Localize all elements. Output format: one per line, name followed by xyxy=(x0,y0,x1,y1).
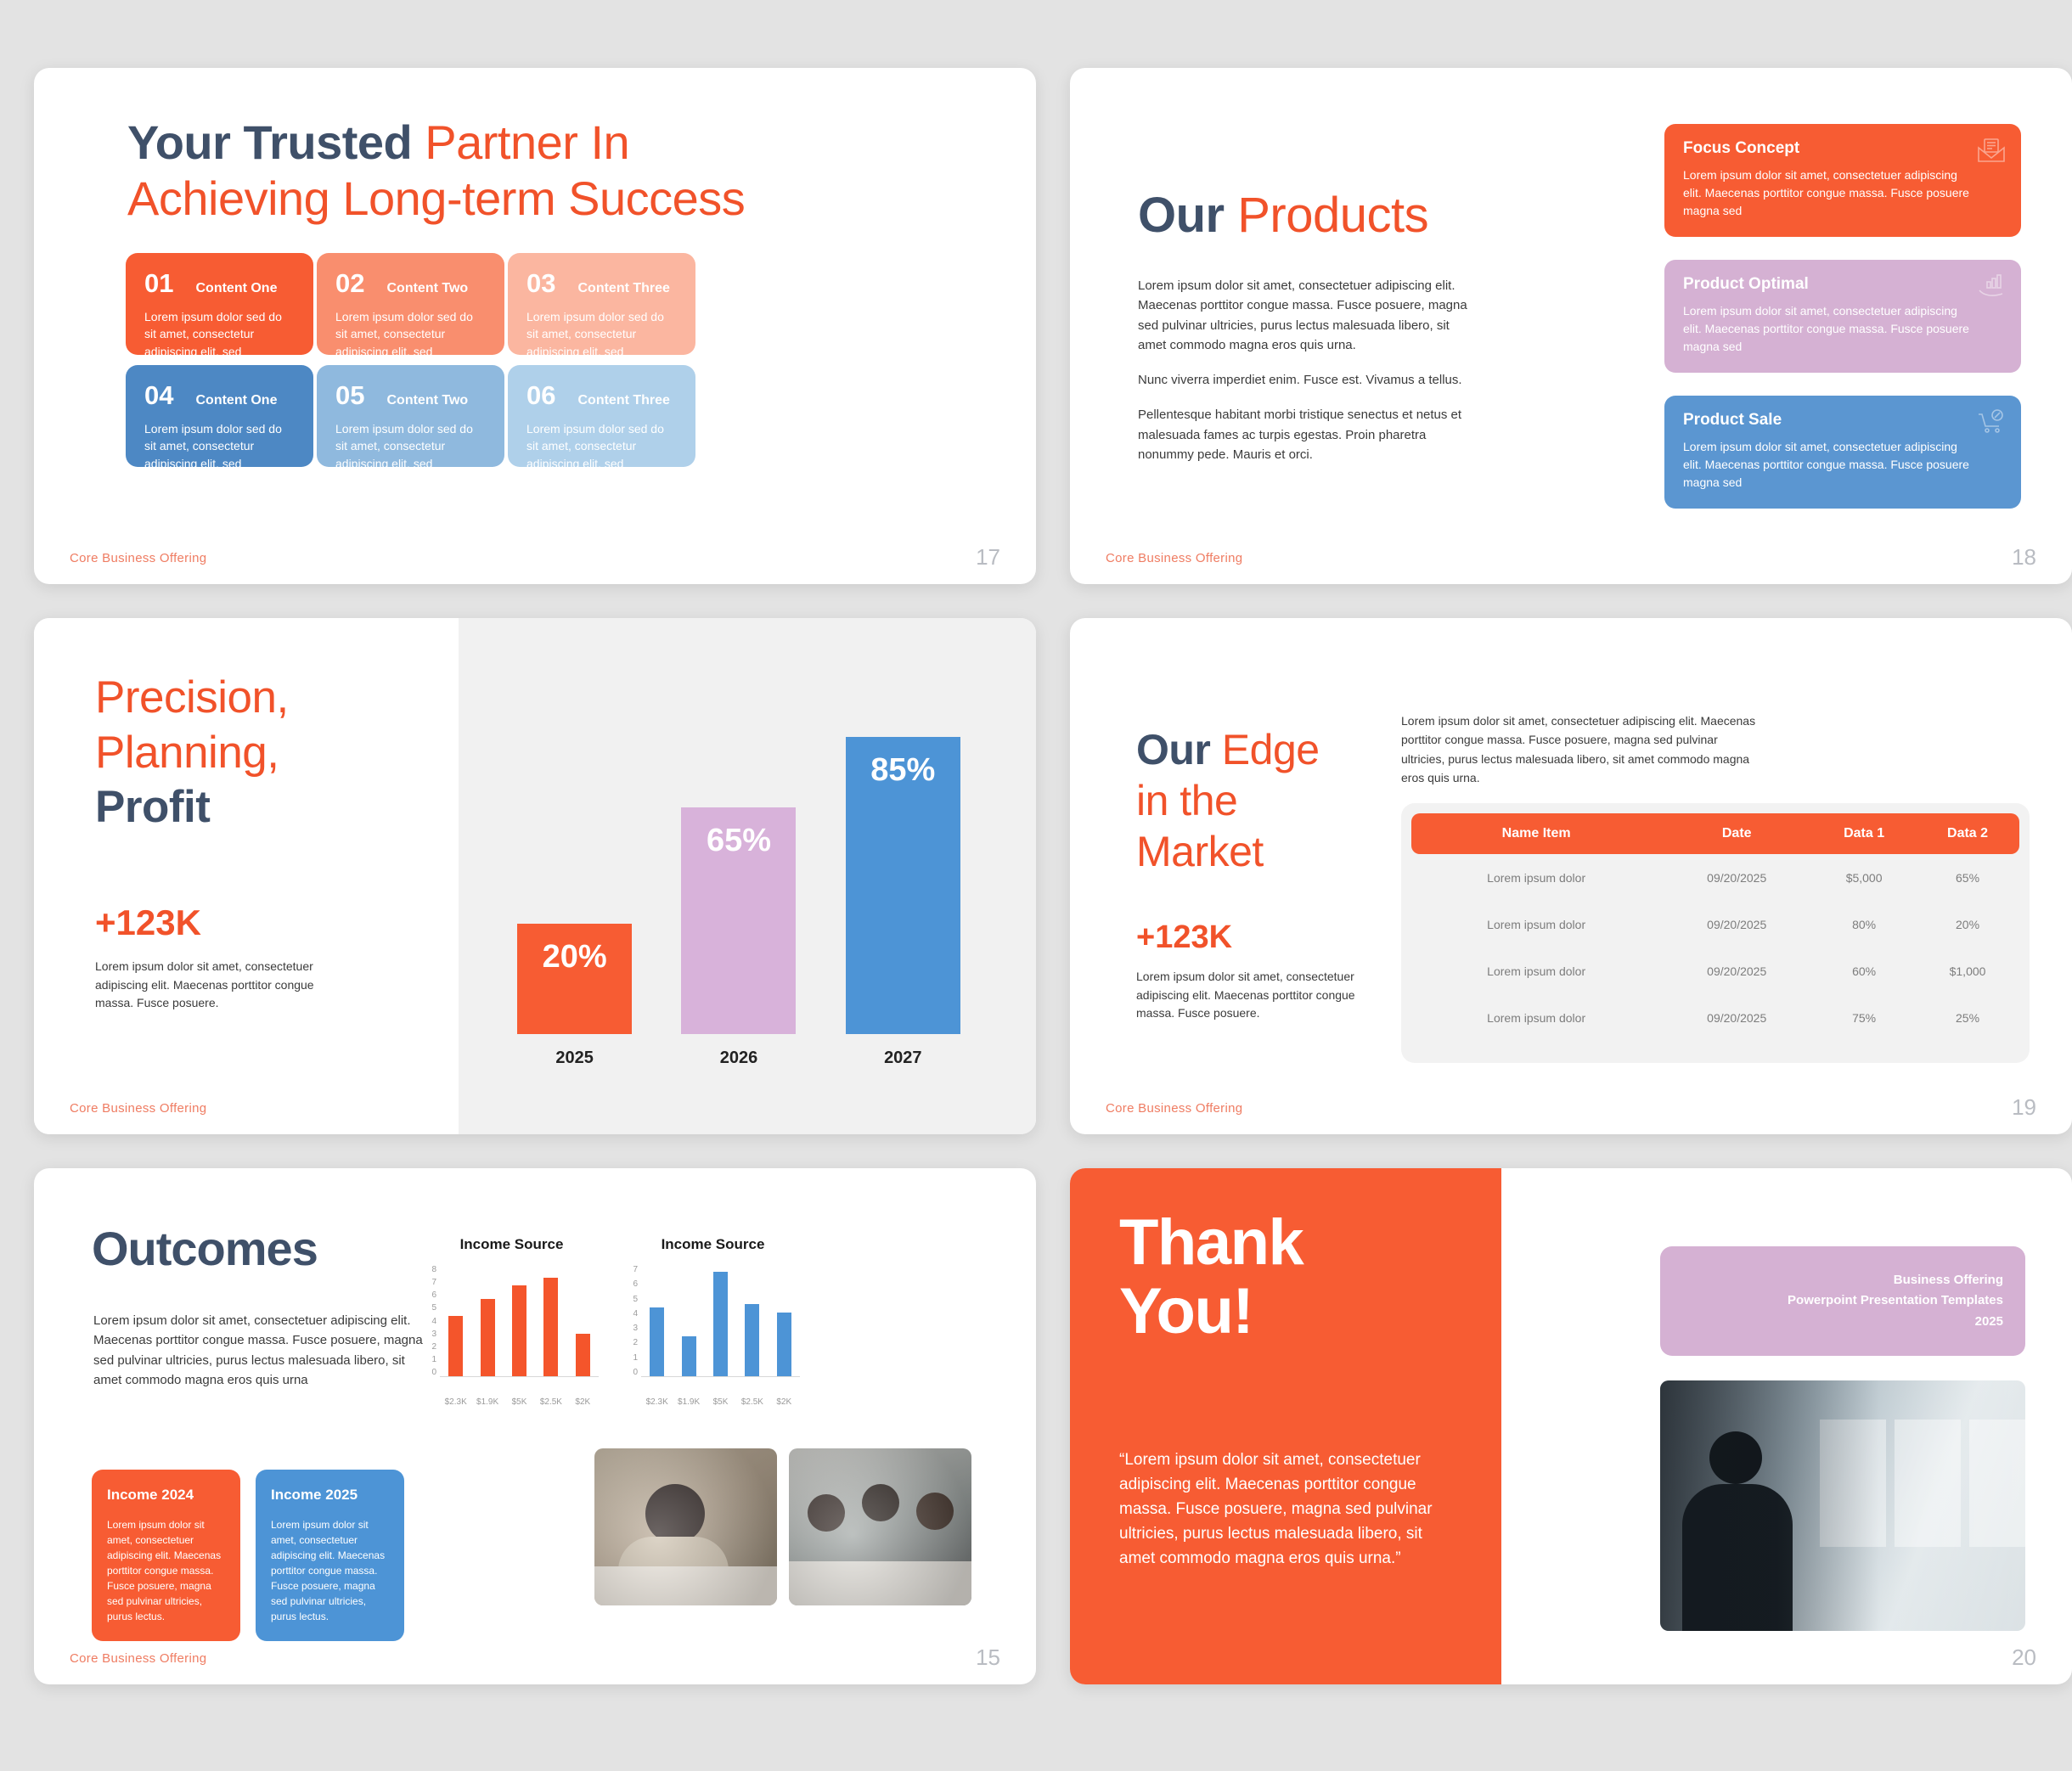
column-header-data-2: Data 2 xyxy=(1916,813,2019,854)
x-tick-label: $2.5K xyxy=(736,1397,768,1407)
kpi-value: +123K xyxy=(1136,919,1232,956)
mini-bar-chart-orange: Income Source 8 7 6 5 4 3 2 1 0 xyxy=(425,1236,599,1407)
page-number: 17 xyxy=(976,544,1000,571)
numbered-card[interactable]: 05Content Two Lorem ipsum dolor sed do s… xyxy=(317,365,504,467)
x-tick-label: $1.9K xyxy=(471,1397,503,1407)
product-card-focus-concept[interactable]: Focus Concept Lorem ipsum dolor sit amet… xyxy=(1664,124,2021,237)
bar-2026: 65% xyxy=(681,807,796,1034)
column-header-name-item: Name Item xyxy=(1411,813,1661,854)
card-number: 06 xyxy=(526,382,555,408)
y-tick-label: 4 xyxy=(425,1317,436,1326)
income-card-title: Income 2024 xyxy=(107,1487,225,1504)
paragraph: Lorem ipsum dolor sit amet, consectetuer… xyxy=(1138,276,1478,355)
page-title: Our Products xyxy=(1138,187,1428,244)
title-dark-part: Your Trusted xyxy=(127,115,425,169)
y-tick-label: 0 xyxy=(626,1368,638,1377)
chart-title: Income Source xyxy=(626,1236,800,1253)
income-card-title: Income 2025 xyxy=(271,1487,389,1504)
product-body: Lorem ipsum dolor sit amet, consectetuer… xyxy=(1683,166,1972,220)
footer-label: Core Business Offering xyxy=(70,551,206,565)
bar-group: 20% xyxy=(511,924,639,1034)
y-tick-label: 0 xyxy=(425,1368,436,1377)
y-tick-label: 5 xyxy=(425,1303,436,1313)
chart-plot-area xyxy=(641,1265,800,1377)
x-tick-label: 2027 xyxy=(839,1049,966,1068)
cell-date: 09/20/2025 xyxy=(1661,994,1812,1041)
mini-bar xyxy=(777,1313,791,1376)
card-body: Lorem ipsum dolor sed do sit amet, conse… xyxy=(335,308,486,360)
presentation-info-badge: Business Offering Powerpoint Presentatio… xyxy=(1660,1246,2025,1356)
table-header-row: Name Item Date Data 1 Data 2 xyxy=(1411,813,2019,854)
card-caption: Content One xyxy=(195,281,277,296)
column-header-data-1: Data 1 xyxy=(1812,813,1916,854)
chart-bars: 20% 65% 85% xyxy=(493,669,985,1034)
mini-bar xyxy=(713,1272,728,1376)
cell-data2: 20% xyxy=(1916,901,2019,947)
x-tick-label: $5K xyxy=(504,1397,535,1407)
badge-line-year: 2025 xyxy=(1682,1312,2003,1332)
photo-man-at-window xyxy=(1660,1380,2025,1631)
y-tick-label: 4 xyxy=(626,1309,638,1318)
mini-chart-row: Income Source 8 7 6 5 4 3 2 1 0 xyxy=(425,1236,800,1407)
mini-bar xyxy=(448,1316,463,1376)
photo-team-meeting xyxy=(789,1448,971,1605)
chart-plot-area xyxy=(440,1265,599,1377)
card-caption: Content Three xyxy=(577,393,669,408)
income-card-body: Lorem ipsum dolor sit amet, consectetuer… xyxy=(107,1517,225,1624)
bar-2027: 85% xyxy=(846,737,960,1034)
numbered-card-grid: 01Content One Lorem ipsum dolor sed do s… xyxy=(126,253,695,467)
mini-bar xyxy=(543,1278,558,1376)
card-body: Lorem ipsum dolor sed do sit amet, conse… xyxy=(526,308,677,360)
page-number: 20 xyxy=(2012,1644,2036,1671)
bar-2025: 20% xyxy=(517,924,632,1034)
product-card-product-sale[interactable]: Product Sale Lorem ipsum dolor sit amet,… xyxy=(1664,396,2021,509)
badge-line-offering: Business Offering xyxy=(1682,1270,2003,1290)
table-row[interactable]: Lorem ipsum dolor 09/20/2025 75% 25% xyxy=(1411,994,2019,1041)
mini-bar xyxy=(481,1299,495,1376)
card-number: 05 xyxy=(335,382,364,408)
cell-name: Lorem ipsum dolor xyxy=(1411,854,1661,901)
body-copy: Lorem ipsum dolor sit amet, consectetuer… xyxy=(93,1311,425,1390)
title-dark-part: Our xyxy=(1138,188,1237,243)
chart-hand-icon xyxy=(1977,273,2006,303)
title-accent-part: Precision, Planning, xyxy=(95,672,289,778)
card-body: Lorem ipsum dolor sed do sit amet, conse… xyxy=(144,420,295,472)
card-number: 01 xyxy=(144,270,173,296)
y-tick-label: 7 xyxy=(425,1278,436,1287)
paragraph: Nunc viverra imperdiet enim. Fusce est. … xyxy=(1138,370,1478,390)
cell-name: Lorem ipsum dolor xyxy=(1411,947,1661,994)
page-title: Outcomes xyxy=(92,1221,318,1276)
slide-trusted-partner[interactable]: Your Trusted Partner In Achieving Long-t… xyxy=(34,68,1036,584)
product-body: Lorem ipsum dolor sit amet, consectetuer… xyxy=(1683,438,1972,492)
income-card-body: Lorem ipsum dolor sit amet, consectetuer… xyxy=(271,1517,389,1624)
x-tick-label: 2026 xyxy=(675,1049,802,1068)
income-card-list: Income 2024 Lorem ipsum dolor sit amet, … xyxy=(92,1470,404,1641)
cell-data1: 80% xyxy=(1812,901,1916,947)
footer-label: Core Business Offering xyxy=(1106,551,1242,565)
cell-data2: 65% xyxy=(1916,854,2019,901)
title-dark-part: Profit xyxy=(95,782,210,832)
x-tick-label: $2.3K xyxy=(440,1397,471,1407)
cell-data1: $5,000 xyxy=(1812,854,1916,901)
page-title: Precision, Planning, Profit xyxy=(95,671,289,835)
income-card-2025[interactable]: Income 2025 Lorem ipsum dolor sit amet, … xyxy=(256,1470,404,1641)
footer-label: Core Business Offering xyxy=(70,1101,206,1116)
product-title: Product Optimal xyxy=(1683,275,2002,294)
bar-group: 65% xyxy=(675,807,802,1034)
chart-x-axis: $2.3K $1.9K $5K $2.5K $2K xyxy=(440,1397,599,1407)
mini-bar xyxy=(512,1285,526,1376)
chart-y-axis: 8 7 6 5 4 3 2 1 0 xyxy=(425,1265,440,1377)
x-tick-label: $2.3K xyxy=(641,1397,673,1407)
quote-text: “Lorem ipsum dolor sit amet, consectetue… xyxy=(1119,1448,1459,1571)
card-body: Lorem ipsum dolor sed do sit amet, conse… xyxy=(335,420,486,472)
chart-title: Income Source xyxy=(425,1236,599,1253)
bar-value-label: 20% xyxy=(543,939,607,1034)
y-tick-label: 6 xyxy=(626,1279,638,1289)
y-tick-label: 5 xyxy=(626,1295,638,1304)
page-number: 18 xyxy=(2012,544,2036,571)
mini-bar xyxy=(745,1304,759,1376)
cell-date: 09/20/2025 xyxy=(1661,947,1812,994)
card-caption: Content Three xyxy=(577,281,669,296)
product-card-list: Focus Concept Lorem ipsum dolor sit amet… xyxy=(1664,124,2021,509)
data-table-container: Name Item Date Data 1 Data 2 Lorem ipsum… xyxy=(1401,803,2030,1063)
cell-data2: 25% xyxy=(1916,994,2019,1041)
card-body: Lorem ipsum dolor sed do sit amet, conse… xyxy=(144,308,295,360)
page-title: Our Edge in the Market xyxy=(1136,724,1320,877)
x-tick-label: $2K xyxy=(567,1397,599,1407)
y-tick-label: 3 xyxy=(425,1330,436,1339)
table-row[interactable]: Lorem ipsum dolor 09/20/2025 $5,000 65% xyxy=(1411,854,2019,901)
card-caption: Content Two xyxy=(386,393,468,408)
card-number: 04 xyxy=(144,382,173,408)
bar-value-label: 85% xyxy=(870,752,935,1034)
bar-chart: 20% 65% 85% 2025 2026 2027 xyxy=(493,669,985,1083)
cell-data1: 60% xyxy=(1812,947,1916,994)
mini-bar xyxy=(682,1336,696,1376)
y-tick-label: 1 xyxy=(626,1353,638,1363)
kpi-value: +123K xyxy=(95,902,201,943)
x-tick-label: $5K xyxy=(705,1397,736,1407)
y-tick-label: 3 xyxy=(626,1324,638,1333)
slide-thank-you[interactable]: Thank You! “Lorem ipsum dolor sit amet, … xyxy=(1070,1168,2072,1684)
card-caption: Content Two xyxy=(386,281,468,296)
product-body: Lorem ipsum dolor sit amet, consectetuer… xyxy=(1683,302,1972,356)
x-tick-label: $2K xyxy=(769,1397,800,1407)
cell-data2: $1,000 xyxy=(1916,947,2019,994)
title-dark-part: Our xyxy=(1136,726,1222,773)
body-copy: Lorem ipsum dolor sit amet, consectetuer… xyxy=(1138,276,1478,464)
y-tick-label: 2 xyxy=(425,1342,436,1352)
numbered-card[interactable]: 06Content Three Lorem ipsum dolor sed do… xyxy=(508,365,695,467)
card-body: Lorem ipsum dolor sed do sit amet, conse… xyxy=(526,420,677,472)
y-tick-label: 2 xyxy=(626,1338,638,1347)
bar-value-label: 65% xyxy=(707,823,771,1034)
numbered-card[interactable]: 04Content One Lorem ipsum dolor sed do s… xyxy=(126,365,313,467)
slide-deck: Your Trusted Partner In Achieving Long-t… xyxy=(0,0,2072,1771)
footer-label: Core Business Offering xyxy=(1106,1101,1242,1116)
product-title: Product Sale xyxy=(1683,411,2002,430)
y-tick-label: 7 xyxy=(626,1265,638,1274)
title-accent-part: Products xyxy=(1237,188,1428,243)
y-tick-label: 1 xyxy=(425,1355,436,1364)
page-number: 15 xyxy=(976,1644,1000,1671)
page-number: 19 xyxy=(2012,1094,2036,1121)
data-table: Name Item Date Data 1 Data 2 Lorem ipsum… xyxy=(1411,813,2019,1041)
footer-label: Core Business Offering xyxy=(70,1651,206,1666)
mail-icon xyxy=(1977,138,2006,167)
cell-name: Lorem ipsum dolor xyxy=(1411,901,1661,947)
badge-line-templates: Powerpoint Presentation Templates xyxy=(1682,1290,2003,1311)
chart-x-axis: $2.3K $1.9K $5K $2.5K $2K xyxy=(641,1397,800,1407)
chart-x-axis-labels: 2025 2026 2027 xyxy=(493,1049,985,1068)
cart-discount-icon xyxy=(1977,409,2006,439)
product-title: Focus Concept xyxy=(1683,139,2002,158)
card-number: 02 xyxy=(335,270,364,296)
x-tick-label: 2025 xyxy=(511,1049,639,1068)
numbered-card[interactable]: 01Content One Lorem ipsum dolor sed do s… xyxy=(126,253,313,355)
photo-woman-writing xyxy=(594,1448,777,1605)
card-caption: Content One xyxy=(195,393,277,408)
numbered-card[interactable]: 02Content Two Lorem ipsum dolor sed do s… xyxy=(317,253,504,355)
y-tick-label: 6 xyxy=(425,1290,436,1300)
table-row[interactable]: Lorem ipsum dolor 09/20/2025 80% 20% xyxy=(1411,901,2019,947)
x-tick-label: $1.9K xyxy=(673,1397,704,1407)
column-header-date: Date xyxy=(1661,813,1812,854)
mini-bar-chart-blue: Income Source 7 6 5 4 3 2 1 0 xyxy=(626,1236,800,1407)
cell-name: Lorem ipsum dolor xyxy=(1411,994,1661,1041)
kpi-description: Lorem ipsum dolor sit amet, consectetuer… xyxy=(95,958,350,1013)
slide-precision-planning-profit[interactable]: Precision, Planning, Profit +123K Lorem … xyxy=(34,618,1036,1134)
slide-outcomes[interactable]: Outcomes Lorem ipsum dolor sit amet, con… xyxy=(34,1168,1036,1684)
intro-copy: Lorem ipsum dolor sit amet, consectetuer… xyxy=(1401,711,1758,788)
mini-bar xyxy=(650,1307,664,1376)
y-tick-label: 8 xyxy=(425,1265,436,1274)
cell-date: 09/20/2025 xyxy=(1661,854,1812,901)
income-card-2024[interactable]: Income 2024 Lorem ipsum dolor sit amet, … xyxy=(92,1470,240,1641)
numbered-card[interactable]: 03Content Three Lorem ipsum dolor sed do… xyxy=(508,253,695,355)
table-row[interactable]: Lorem ipsum dolor 09/20/2025 60% $1,000 xyxy=(1411,947,2019,994)
page-title: Thank You! xyxy=(1119,1209,1303,1346)
cell-data1: 75% xyxy=(1812,994,1916,1041)
x-tick-label: $2.5K xyxy=(535,1397,566,1407)
mini-bar xyxy=(576,1334,590,1376)
cell-date: 09/20/2025 xyxy=(1661,901,1812,947)
kpi-description: Lorem ipsum dolor sit amet, consectetuer… xyxy=(1136,968,1361,1023)
bar-group: 85% xyxy=(839,737,966,1034)
page-title: Your Trusted Partner In Achieving Long-t… xyxy=(127,115,745,227)
product-card-product-optimal[interactable]: Product Optimal Lorem ipsum dolor sit am… xyxy=(1664,260,2021,373)
paragraph: Pellentesque habitant morbi tristique se… xyxy=(1138,405,1478,464)
card-number: 03 xyxy=(526,270,555,296)
slide-our-products[interactable]: Our Products Lorem ipsum dolor sit amet,… xyxy=(1070,68,2072,584)
slide-our-edge[interactable]: Our Edge in the Market Lorem ipsum dolor… xyxy=(1070,618,2072,1134)
chart-y-axis: 7 6 5 4 3 2 1 0 xyxy=(626,1265,641,1377)
photo-row xyxy=(594,1448,971,1605)
